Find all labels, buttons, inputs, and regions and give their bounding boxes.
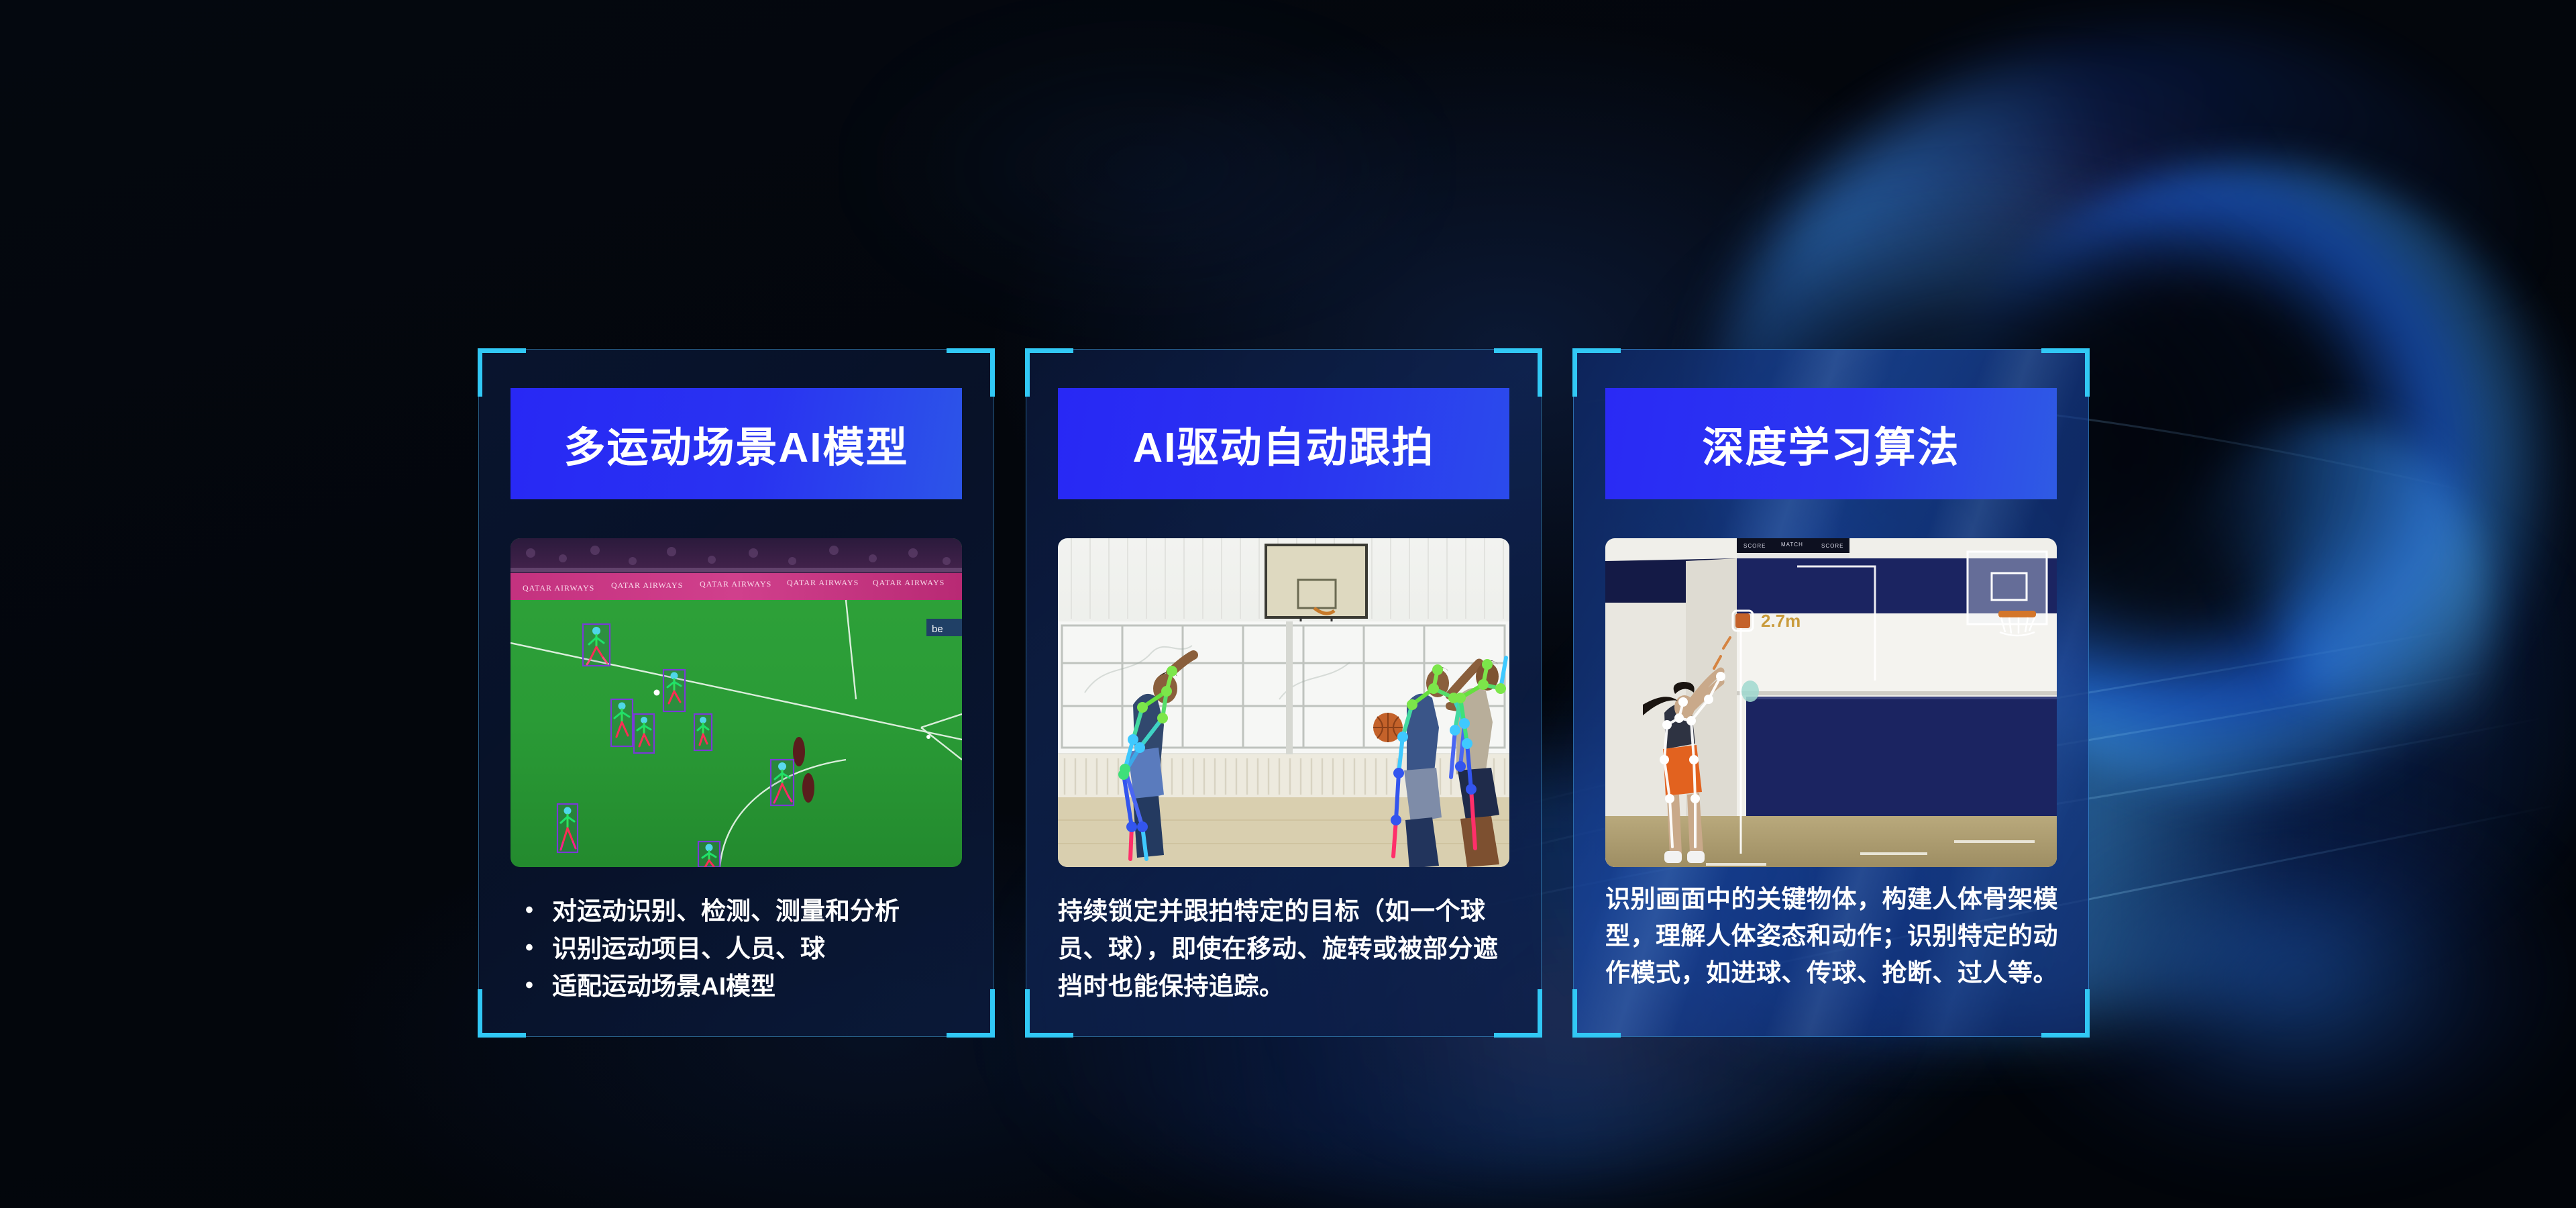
- feature-card-row: 多运动场景AI模型: [478, 349, 2088, 1037]
- card-title-multi-sport-ai-model: 多运动场景AI模型: [511, 388, 962, 499]
- svg-text:SCORE: SCORE: [1821, 543, 1843, 549]
- card-body-multi-sport-ai-model: 对运动识别、检测、测量和分析 识别运动项目、人员、球 适配运动场景AI模型: [511, 893, 973, 1005]
- svg-text:QATAR AIRWAYS: QATAR AIRWAYS: [787, 578, 859, 587]
- svg-text:QATAR AIRWAYS: QATAR AIRWAYS: [873, 578, 945, 587]
- svg-text:MATCH: MATCH: [1781, 542, 1803, 548]
- svg-text:be: be: [932, 623, 943, 635]
- slide-canvas: 多运动场景AI模型: [0, 0, 2576, 1208]
- card-paragraph: 识别画面中的关键物体，构建人体骨架模型，理解人体姿态和动作；识别特定的动作模式，…: [1605, 880, 2068, 991]
- card-media-basketball-shot-height-measure: SCORE MATCH SCORE: [1605, 538, 2057, 867]
- scoreboard-label: SCORE: [1743, 543, 1766, 549]
- svg-text:QATAR AIRWAYS: QATAR AIRWAYS: [611, 581, 683, 590]
- measurement-label: 2.7m: [1761, 611, 1801, 631]
- corner-bracket-bottom-left-icon: [1572, 989, 1621, 1038]
- card-media-basketball-gym-pose-skeleton: [1058, 538, 1509, 867]
- card-body-deep-learning-algorithm: 识别画面中的关键物体，构建人体骨架模型，理解人体姿态和动作；识别特定的动作模式，…: [1605, 880, 2068, 991]
- feature-card-deep-learning-algorithm[interactable]: 深度学习算法 SCORE MATCH SCORE: [1573, 349, 2089, 1037]
- list-item: 适配运动场景AI模型: [520, 968, 973, 1005]
- list-item: 识别运动项目、人员、球: [520, 930, 973, 968]
- card-title-ai-auto-tracking-shot: AI驱动自动跟拍: [1058, 388, 1509, 499]
- list-item: 对运动识别、检测、测量和分析: [520, 893, 973, 930]
- feature-card-multi-sport-ai-model[interactable]: 多运动场景AI模型: [478, 349, 994, 1037]
- card-media-soccer-pose-detection: QATAR AIRWAYS QATAR AIRWAYS QATAR AIRWAY…: [511, 538, 962, 867]
- card-title-deep-learning-algorithm: 深度学习算法: [1605, 388, 2057, 499]
- card-body-ai-auto-tracking-shot: 持续锁定并跟拍特定的目标（如一个球员、球），即使在移动、旋转或被部分遮挡时也能保…: [1058, 893, 1521, 1005]
- corner-bracket-bottom-right-icon: [2041, 989, 2090, 1038]
- card-paragraph: 持续锁定并跟拍特定的目标（如一个球员、球），即使在移动、旋转或被部分遮挡时也能保…: [1058, 893, 1521, 1005]
- feature-card-ai-auto-tracking-shot[interactable]: AI驱动自动跟拍: [1026, 349, 1542, 1037]
- svg-text:QATAR AIRWAYS: QATAR AIRWAYS: [523, 583, 594, 593]
- feature-bullet-list: 对运动识别、检测、测量和分析 识别运动项目、人员、球 适配运动场景AI模型: [511, 893, 973, 1005]
- svg-text:QATAR AIRWAYS: QATAR AIRWAYS: [700, 579, 771, 589]
